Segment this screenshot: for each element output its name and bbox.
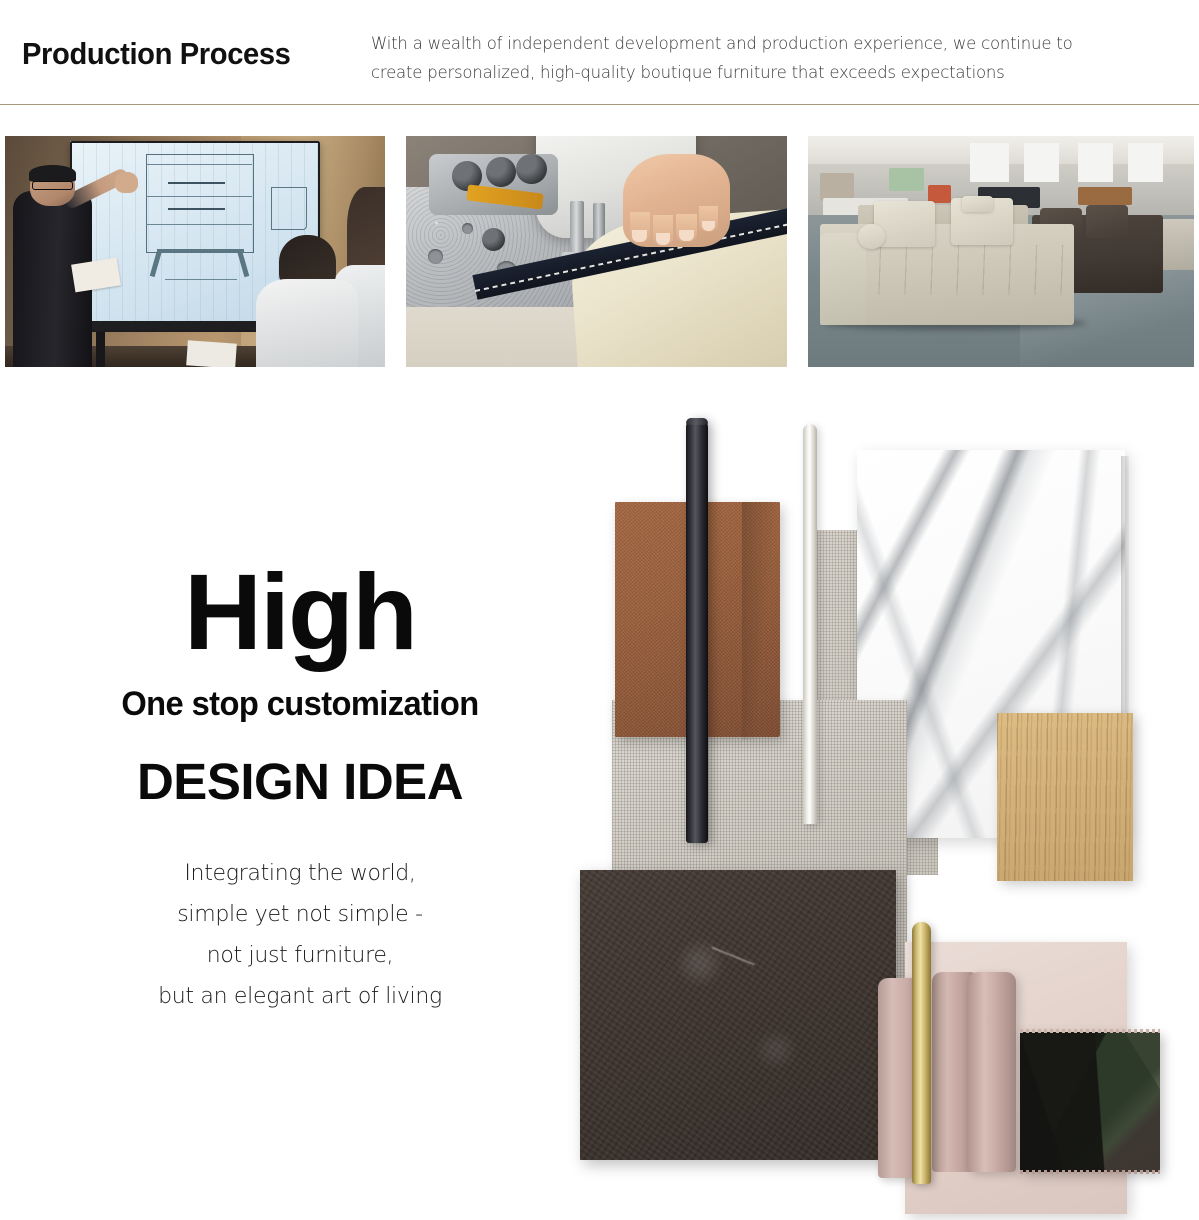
nail-2 <box>656 233 671 245</box>
needle-bar <box>570 201 584 256</box>
page-subtitle: With a wealth of independent development… <box>371 29 1181 87</box>
title-design-idea: DESIGN IDEA <box>0 752 600 811</box>
design-idea-copy: High One stop customization DESIGN IDEA … <box>0 560 600 1017</box>
black-metal-rod <box>686 418 708 843</box>
subtitle-line-2: create personalized, high-quality boutiq… <box>371 58 1181 87</box>
tension-knob-2 <box>486 157 516 187</box>
nail-1 <box>632 230 647 242</box>
swatch-pinked-edge-bottom <box>1020 1170 1160 1174</box>
nail-3 <box>679 230 694 241</box>
window-3 <box>1078 143 1113 182</box>
dark-stone-slab <box>580 870 896 1160</box>
subhead-one-stop: One stop customization <box>12 685 588 724</box>
finger-4 <box>699 206 718 232</box>
dark-cushion-2 <box>1086 205 1128 237</box>
swatch-pinked-edge-top <box>1020 1029 1160 1033</box>
window-4 <box>1128 143 1163 182</box>
photo-finished-sofas[interactable] <box>808 136 1194 367</box>
design-discussion-scene <box>5 136 385 367</box>
attendee-1-body <box>256 279 359 367</box>
subtitle-line-1: With a wealth of independent development… <box>371 29 1181 58</box>
showroom-scene <box>808 136 1194 367</box>
process-photo-row <box>0 136 1199 367</box>
white-metal-rod <box>803 424 817 824</box>
window-1 <box>970 143 1009 182</box>
presenter-glasses <box>32 181 74 191</box>
page-title: Production Process <box>22 36 291 72</box>
brass-rod <box>912 922 931 1184</box>
nail-4 <box>702 221 716 231</box>
tagline-line-2: simple yet not simple - <box>0 894 600 935</box>
tagline-line-3: not just furniture, <box>0 935 600 976</box>
worker-hand <box>623 154 730 246</box>
window-2 <box>1024 143 1059 182</box>
tagline-line-4: but an elegant art of living <box>0 976 600 1017</box>
patterned-fabric-swatch <box>1020 1032 1160 1172</box>
finger-3 <box>676 214 696 243</box>
material-sample-collage[interactable] <box>560 400 1199 1220</box>
page-header: Production Process With a wealth of inde… <box>0 0 1199 105</box>
tagline-line-1: Integrating the world, <box>0 853 600 894</box>
sewing-scene <box>406 136 787 367</box>
stacked-goods-1 <box>820 173 855 201</box>
pink-velvet-roll-3 <box>968 972 1016 1172</box>
sofa-cushion-3 <box>962 196 993 212</box>
plate-hole-1 <box>428 249 443 263</box>
presenter-hand <box>115 172 138 193</box>
tagline-block: Integrating the world, simple yet not si… <box>0 853 600 1017</box>
oak-wood-sample <box>997 713 1133 881</box>
photo-leather-sewing[interactable] <box>406 136 787 367</box>
headline-high: High <box>0 560 600 664</box>
leather-fold-shadow <box>742 502 780 740</box>
sofa-seat-channels <box>854 245 1074 296</box>
header-divider <box>0 104 1199 105</box>
stacked-goods-2 <box>889 168 924 191</box>
attendee-document <box>187 340 238 367</box>
finger-1 <box>630 212 650 243</box>
sofa-armrest <box>820 233 866 325</box>
plate-hole-3 <box>462 223 473 234</box>
photo-design-discussion[interactable] <box>5 136 385 367</box>
stacked-goods-4 <box>1078 187 1132 205</box>
black-rod-cap <box>686 418 708 425</box>
presenter-hair <box>29 165 77 182</box>
finger-2 <box>653 215 673 245</box>
